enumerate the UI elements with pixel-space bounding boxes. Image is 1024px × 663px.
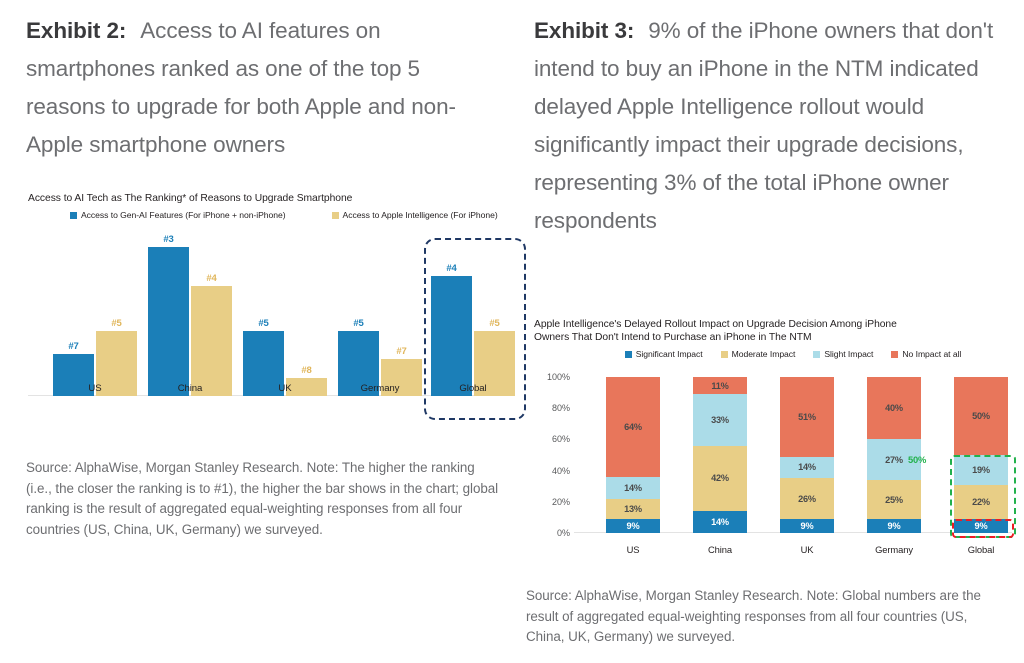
right-chart-title: Apple Intelligence's Delayed Rollout Imp… [534, 318, 934, 344]
bar-germany-gen-ai[interactable]: #5 [338, 232, 379, 396]
exhibit-2-label: Exhibit 2: [26, 18, 126, 43]
legend-swatch-gold-icon [332, 212, 339, 219]
segment-uk-moderate-impact[interactable]: 26% [780, 478, 834, 519]
bar-group-global: #4 #5 Global [428, 232, 518, 396]
bar-china-apple-intelligence[interactable]: #4 [191, 232, 232, 396]
bar-label-global-gen-ai: #4 [431, 263, 472, 274]
segment-china-slight-impact[interactable]: 33% [693, 394, 747, 445]
bar-us-apple-intelligence[interactable]: #5 [96, 232, 137, 396]
slide-page: Exhibit 2:Access to AI features on smart… [0, 0, 1024, 663]
bar-group-us: #7 #5 US [50, 232, 140, 396]
segment-uk-significant-impact[interactable]: 9% [780, 519, 834, 533]
bar-group-uk: #5 #8 UK [240, 232, 330, 396]
right-chart-plot: 100% 80% 60% 40% 20% 0% 64% 14% 13% 9% 1… [534, 369, 1012, 561]
x-label-r-us: US [606, 544, 660, 555]
bar-uk-apple-intelligence[interactable]: #8 [286, 232, 327, 396]
y-tick-80: 80% [534, 403, 570, 413]
legend-item-moderate-impact: Moderate Impact [721, 349, 796, 359]
legend-swatch-significant-icon [625, 351, 632, 358]
segment-us-moderate-impact[interactable]: 13% [606, 499, 660, 519]
exhibit-3-source-note: Source: AlphaWise, Morgan Stanley Resear… [526, 586, 1008, 648]
exhibit-3-label: Exhibit 3: [534, 18, 634, 43]
left-chart-plot: #7 #5 US #3 #4 [28, 232, 498, 417]
left-chart-title: Access to AI Tech as The Ranking* of Rea… [28, 192, 498, 205]
left-chart-legend: Access to Gen-AI Features (For iPhone + … [28, 210, 498, 220]
segment-us-significant-impact[interactable]: 9% [606, 519, 660, 533]
segment-uk-no-impact[interactable]: 51% [780, 377, 834, 457]
bar-group-china: #3 #4 China [145, 232, 235, 396]
bar-us-gen-ai[interactable]: #7 [53, 232, 94, 396]
bar-label-global-apple-intelligence: #5 [474, 318, 515, 329]
y-tick-20: 20% [534, 497, 570, 507]
right-chart-legend: Significant Impact Moderate Impact Sligh… [534, 349, 1012, 359]
legend-swatch-blue-icon [70, 212, 77, 219]
bar-global-apple-intelligence[interactable]: #5 [474, 232, 515, 396]
bar-global-gen-ai[interactable]: #4 [431, 232, 472, 396]
bar-group-germany: #5 #7 Germany [335, 232, 425, 396]
legend-item-gen-ai: Access to Gen-AI Features (For iPhone + … [70, 210, 286, 220]
bar-uk-gen-ai[interactable]: #5 [243, 232, 284, 396]
x-label-r-germany: Germany [867, 544, 921, 555]
bar-label-china-gen-ai: #3 [148, 234, 189, 245]
bar-germany-apple-intelligence[interactable]: #7 [381, 232, 422, 396]
x-label-r-uk: UK [780, 544, 834, 555]
segment-germany-significant-impact[interactable]: 9% [867, 519, 921, 533]
legend-swatch-no-impact-icon [891, 351, 898, 358]
exhibit-3-headline-text: 9% of the iPhone owners that don't inten… [534, 18, 993, 233]
segment-global-moderate-impact[interactable]: 22% [954, 485, 1008, 519]
right-chart-grid-area: 64% 14% 13% 9% 11% 33% 42% 14% 51% 14% 2… [578, 377, 1010, 533]
exhibit-2-source-note: Source: AlphaWise, Morgan Stanley Resear… [26, 458, 502, 540]
legend-label-moderate-impact: Moderate Impact [732, 349, 796, 359]
x-label-uk: UK [240, 383, 330, 394]
legend-label-apple-intelligence: Access to Apple Intelligence (For iPhone… [343, 210, 498, 220]
segment-germany-no-impact[interactable]: 40% [867, 377, 921, 439]
segment-global-slight-impact[interactable]: 19% [954, 455, 1008, 485]
bar-label-germany-gen-ai: #5 [338, 318, 379, 329]
stack-uk: 51% 14% 26% 9% [780, 377, 834, 533]
x-label-china: China [145, 383, 235, 394]
legend-label-no-impact: No Impact at all [902, 349, 961, 359]
segment-china-moderate-impact[interactable]: 42% [693, 446, 747, 512]
legend-label-gen-ai: Access to Gen-AI Features (For iPhone + … [81, 210, 286, 220]
segment-global-significant-impact[interactable]: 9% [954, 519, 1008, 533]
bar-label-china-apple-intelligence: #4 [191, 273, 232, 284]
segment-us-slight-impact[interactable]: 14% [606, 477, 660, 499]
legend-label-significant-impact: Significant Impact [636, 349, 703, 359]
bar-label-uk-gen-ai: #5 [243, 318, 284, 329]
x-label-germany: Germany [335, 383, 425, 394]
stack-global: 50% 19% 22% 9% [954, 377, 1008, 533]
bar-label-us-apple-intelligence: #5 [96, 318, 137, 329]
legend-item-significant-impact: Significant Impact [625, 349, 703, 359]
bar-label-us-gen-ai: #7 [53, 341, 94, 352]
x-label-global: Global [428, 383, 518, 394]
legend-item-apple-intelligence: Access to Apple Intelligence (For iPhone… [332, 210, 498, 220]
segment-uk-slight-impact[interactable]: 14% [780, 457, 834, 479]
legend-label-slight-impact: Slight Impact [824, 349, 873, 359]
segment-global-no-impact[interactable]: 50% [954, 377, 1008, 455]
y-tick-100: 100% [534, 372, 570, 382]
legend-swatch-moderate-icon [721, 351, 728, 358]
legend-item-no-impact: No Impact at all [891, 349, 961, 359]
exhibit-3-headline: Exhibit 3:9% of the iPhone owners that d… [534, 12, 1016, 240]
stack-china: 11% 33% 42% 14% [693, 377, 747, 533]
exhibit-2-column: Exhibit 2:Access to AI features on smart… [0, 0, 512, 663]
bar-label-uk-apple-intelligence: #8 [286, 365, 327, 376]
x-label-us: US [50, 383, 140, 394]
x-label-r-china: China [693, 544, 747, 555]
exhibit-3-chart: Apple Intelligence's Delayed Rollout Imp… [534, 318, 1012, 573]
y-tick-60: 60% [534, 434, 570, 444]
segment-us-no-impact[interactable]: 64% [606, 377, 660, 477]
exhibit-2-chart: Access to AI Tech as The Ranking* of Rea… [28, 192, 498, 447]
y-tick-40: 40% [534, 466, 570, 476]
segment-germany-moderate-impact[interactable]: 25% [867, 480, 921, 519]
segment-china-significant-impact[interactable]: 14% [693, 511, 747, 533]
legend-item-slight-impact: Slight Impact [813, 349, 873, 359]
exhibit-2-headline: Exhibit 2:Access to AI features on smart… [26, 12, 498, 164]
x-label-r-global: Global [954, 544, 1008, 555]
global-sum-highlight-label: 50% [908, 454, 926, 465]
bar-china-gen-ai[interactable]: #3 [148, 232, 189, 396]
segment-china-no-impact[interactable]: 11% [693, 377, 747, 394]
stack-us: 64% 14% 13% 9% [606, 377, 660, 533]
legend-swatch-slight-icon [813, 351, 820, 358]
bar-label-germany-apple-intelligence: #7 [381, 346, 422, 357]
y-tick-0: 0% [534, 528, 570, 538]
